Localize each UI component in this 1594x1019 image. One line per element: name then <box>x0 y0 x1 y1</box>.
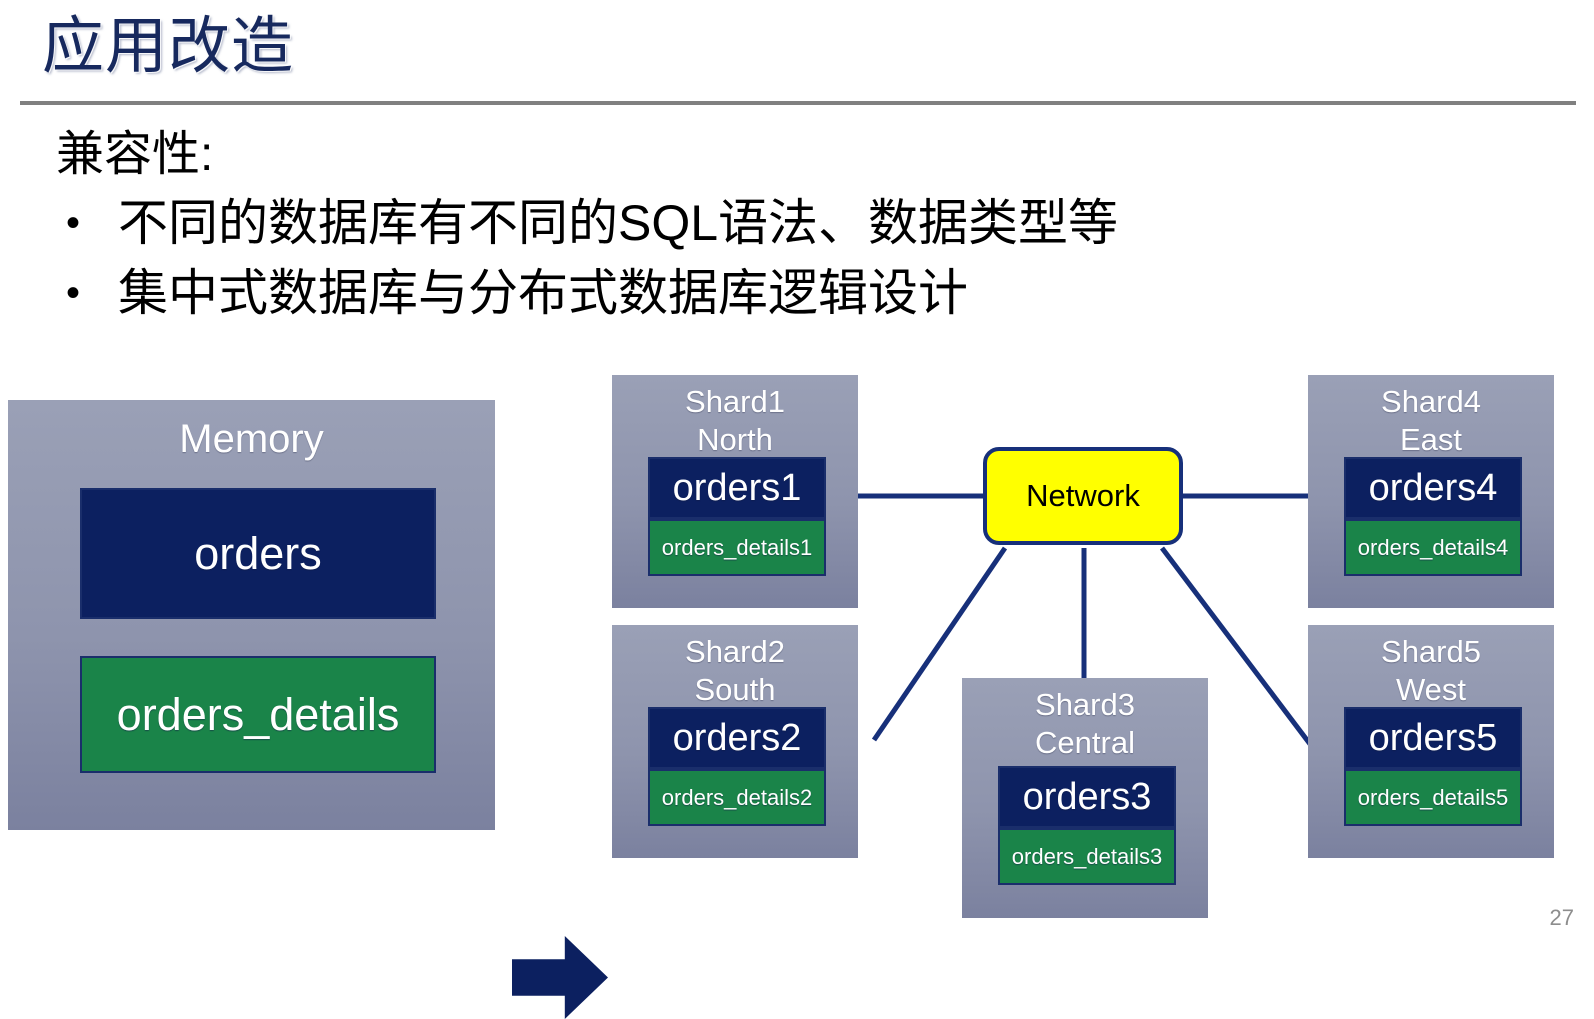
table-orders1: orders1 <box>648 457 826 519</box>
shard5-title: Shard5 West <box>1308 633 1554 709</box>
shard4-region: East <box>1308 421 1554 459</box>
bullet-text-1: 不同的数据库有不同的SQL语法、数据类型等 <box>118 188 1118 258</box>
shard1-title: Shard1 North <box>612 383 858 459</box>
slide-canvas: 应用改造 兼容性: • 不同的数据库有不同的SQL语法、数据类型等 • 集中式数… <box>0 0 1594 939</box>
bullet-marker-icon: • <box>56 188 118 258</box>
shard-panel-shard1: Shard1 North orders1 orders_details1 <box>612 375 858 608</box>
shard4-name: Shard4 <box>1308 383 1554 421</box>
shard3-name: Shard3 <box>962 686 1208 724</box>
shard3-region: Central <box>962 724 1208 762</box>
table-orders-details: orders_details <box>80 656 436 773</box>
page-title: 应用改造 <box>42 4 294 90</box>
shard-panel-shard5: Shard5 West orders5 orders_details5 <box>1308 625 1554 858</box>
table-orders2: orders2 <box>648 707 826 769</box>
slide-page-number: 27 <box>1550 905 1574 931</box>
bullet-marker-icon: • <box>56 258 118 328</box>
memory-panel-title: Memory <box>8 414 495 464</box>
table-orders4: orders4 <box>1344 457 1522 519</box>
shard3-title: Shard3 Central <box>962 686 1208 762</box>
shard5-region: West <box>1308 671 1554 709</box>
body-content: 兼容性: • 不同的数据库有不同的SQL语法、数据类型等 • 集中式数据库与分布… <box>56 122 1506 328</box>
shard-panel-shard2: Shard2 South orders2 orders_details2 <box>612 625 858 858</box>
table-orders-details5: orders_details5 <box>1344 769 1522 826</box>
bullet-item-2: • 集中式数据库与分布式数据库逻辑设计 <box>56 258 1506 328</box>
shard4-title: Shard4 East <box>1308 383 1554 459</box>
shard1-name: Shard1 <box>612 383 858 421</box>
bullet-text-2: 集中式数据库与分布式数据库逻辑设计 <box>118 258 968 328</box>
right-arrow-icon <box>512 936 608 1019</box>
bullet-item-1: • 不同的数据库有不同的SQL语法、数据类型等 <box>56 188 1506 258</box>
shard2-name: Shard2 <box>612 633 858 671</box>
shard1-region: North <box>612 421 858 459</box>
shard2-title: Shard2 South <box>612 633 858 709</box>
table-orders5: orders5 <box>1344 707 1522 769</box>
memory-panel: Memory orders orders_details <box>8 400 495 830</box>
table-orders3: orders3 <box>998 766 1176 828</box>
shard-panel-shard4: Shard4 East orders4 orders_details4 <box>1308 375 1554 608</box>
title-divider <box>20 101 1576 105</box>
body-heading: 兼容性: <box>56 122 1506 188</box>
network-node: Network <box>983 447 1183 545</box>
table-orders-details4: orders_details4 <box>1344 519 1522 576</box>
table-orders: orders <box>80 488 436 619</box>
architecture-diagram: Memory orders orders_details Shard1 Nort… <box>0 360 1594 939</box>
memory-label: Memory <box>8 414 495 464</box>
table-orders-details1: orders_details1 <box>648 519 826 576</box>
table-orders-details3: orders_details3 <box>998 828 1176 885</box>
table-orders-details2: orders_details2 <box>648 769 826 826</box>
shard5-name: Shard5 <box>1308 633 1554 671</box>
shard2-region: South <box>612 671 858 709</box>
shard-panel-shard3: Shard3 Central orders3 orders_details3 <box>962 678 1208 918</box>
